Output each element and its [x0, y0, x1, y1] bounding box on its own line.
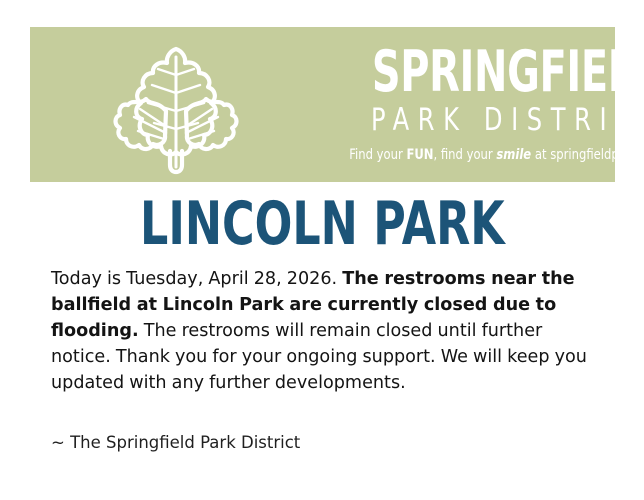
wordmark-springfield: SPRINGFIELD [372, 46, 644, 98]
tagline-part-1: Find your [349, 147, 406, 163]
notice-date-sentence: Today is Tuesday, April 28, 2026. [51, 269, 342, 289]
banner-tagline: Find your FUN, find your smile at spring… [349, 147, 644, 163]
wordmark-park-district: PARK DISTRICT [371, 102, 644, 138]
page-title-text: LINCOLN PARK [140, 194, 505, 254]
notice-body: Today is Tuesday, April 28, 2026. The re… [51, 266, 604, 454]
notice-paragraph: Today is Tuesday, April 28, 2026. The re… [51, 266, 604, 396]
tagline-part-3: at springfieldparks.org [531, 147, 644, 163]
notice-signature: ~ The Springfield Park District [51, 396, 604, 454]
tagline-emphasis-smile: smile [496, 147, 531, 163]
park-district-banner: SPRINGFIELD PARK DISTRICT Find your FUN,… [30, 27, 615, 182]
oak-leaf-icon [110, 35, 242, 175]
park-district-wordmark: SPRINGFIELD PARK DISTRICT Find your FUN,… [246, 46, 644, 163]
tagline-emphasis-fun: FUN [406, 147, 433, 163]
page-title: LINCOLN PARK [0, 194, 644, 254]
tagline-part-2: , find your [433, 147, 496, 163]
